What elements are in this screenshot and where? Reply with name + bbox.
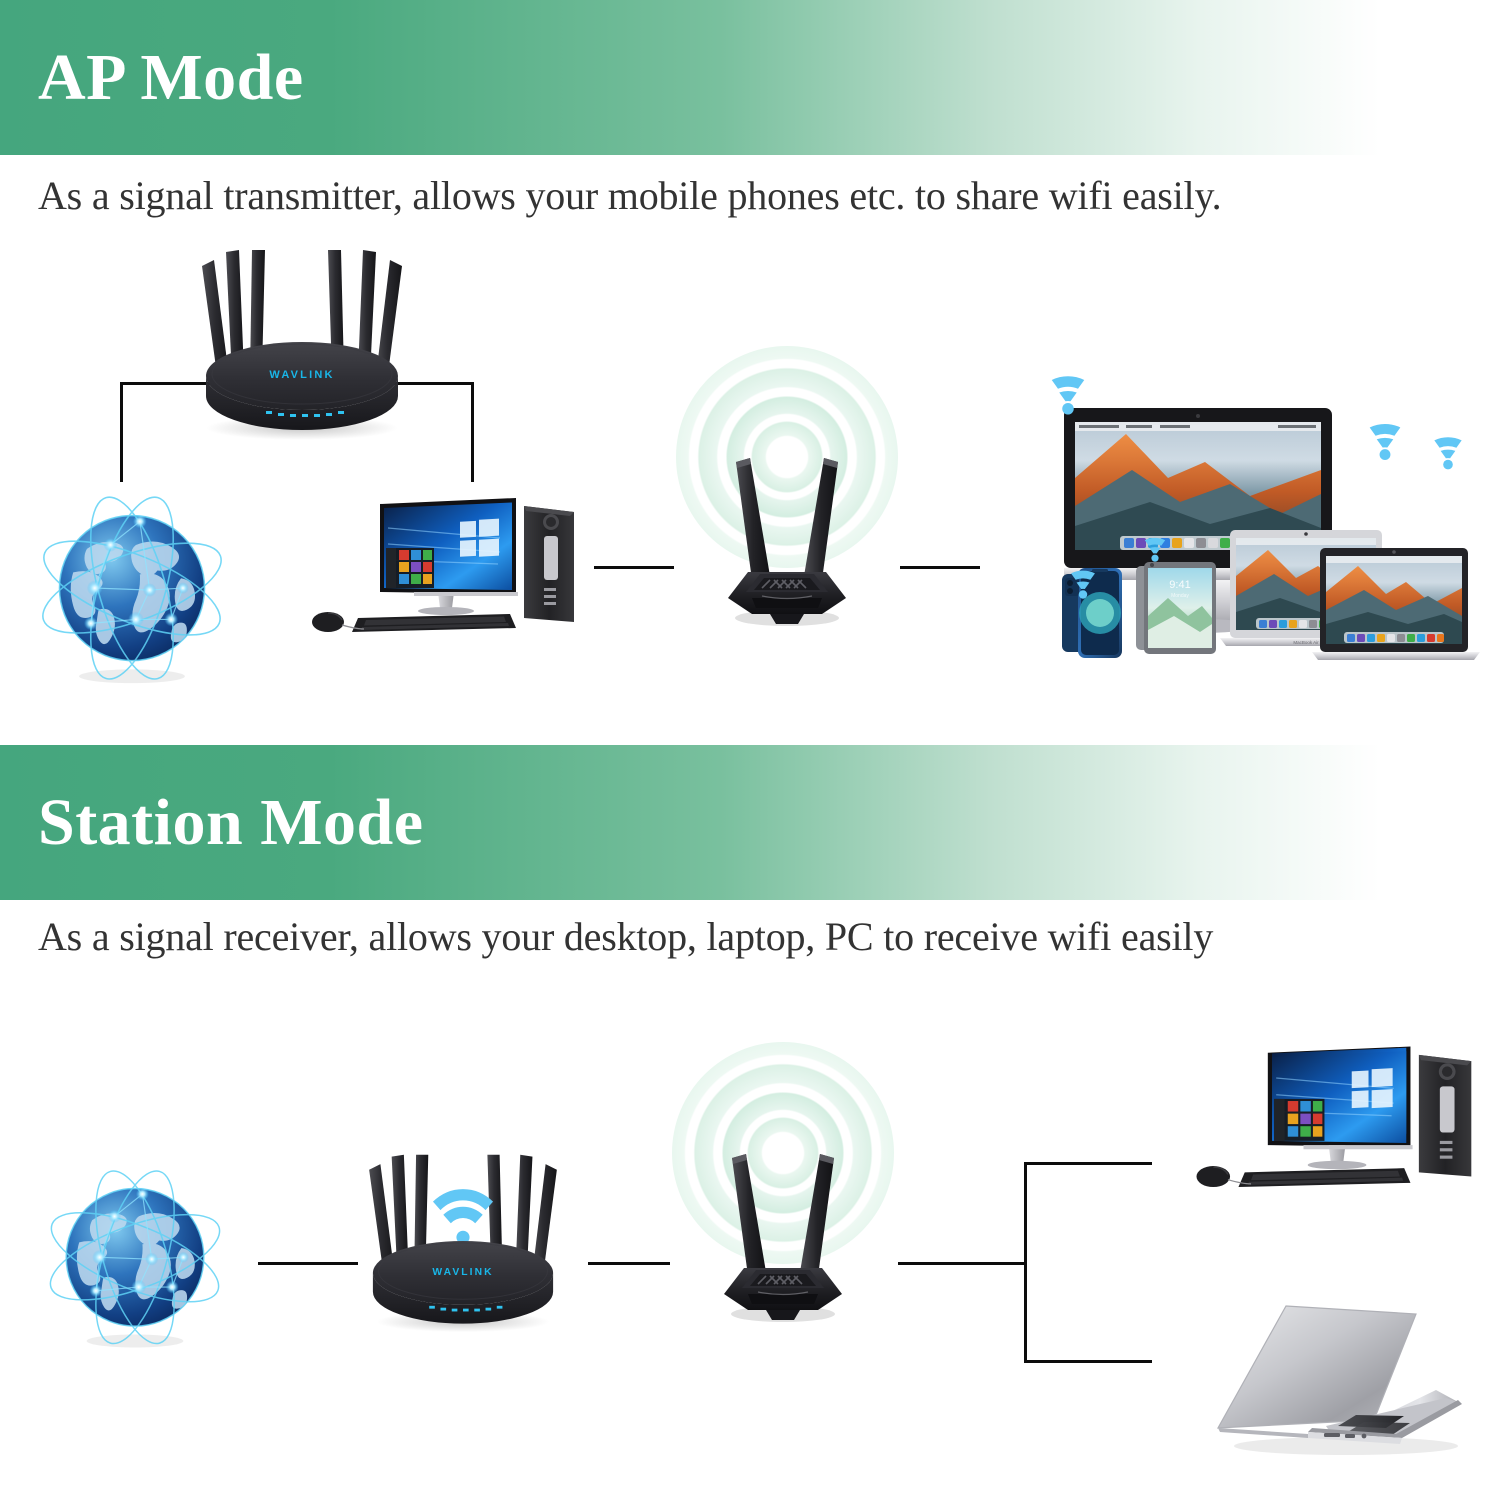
ap-mode-title: AP Mode [38, 45, 304, 111]
adapter-antenna-left-b [732, 1154, 766, 1276]
macbook-pro [1312, 548, 1480, 660]
station-mode-title: Station Mode [38, 790, 424, 856]
bracket-arm-to-laptop [1024, 1360, 1152, 1363]
svg-text:Monday: Monday [1171, 593, 1189, 599]
connector-pc-to-adapter [594, 566, 674, 569]
adapter-antenna-left [736, 458, 770, 580]
wifi-icon-macbook-air [1370, 424, 1401, 460]
ipad: 9:41 Monday [1136, 562, 1216, 654]
ap-mode-subtitle: As a signal transmitter, allows your mob… [38, 172, 1221, 219]
connector-adapter-to-devices [900, 566, 980, 569]
adapter-antenna-right [804, 458, 838, 580]
silver-macbook-laptop [1190, 1286, 1490, 1466]
infographic-page: AP Mode As a signal transmitter, allows … [0, 0, 1500, 1500]
wifi-icon-router [433, 1189, 493, 1244]
wavlink-router-bottom: WAVLINK [356, 1148, 570, 1336]
adapter-antenna-right-b [800, 1154, 834, 1276]
wavlink-router-top: WAVLINK [188, 248, 416, 438]
station-mode-subtitle: As a signal receiver, allows your deskto… [38, 913, 1213, 960]
ap-mode-banner: AP Mode [0, 0, 1500, 155]
router-brand-logo-bottom: WAVLINK [432, 1267, 493, 1278]
windows-desktop-pc-top [302, 492, 588, 648]
wifi-icon-macbook-pro [1434, 437, 1461, 469]
apple-device-cluster: 9:41 Monday [1040, 366, 1490, 666]
windows-desktop-pc-bottom [1186, 1040, 1486, 1204]
router-brand-logo: WAVLINK [269, 369, 334, 381]
connector-router-to-adapter-bottom [588, 1262, 670, 1265]
svg-text:MacBook Air: MacBook Air [1293, 640, 1319, 645]
usb-wifi-adapter-bottom [708, 1144, 858, 1322]
connector-router-to-globe-down [120, 382, 123, 482]
bracket-arm-to-pc [1024, 1162, 1152, 1165]
connector-globe-to-router-bottom [258, 1262, 358, 1265]
bracket-vertical [1024, 1162, 1027, 1363]
station-mode-banner: Station Mode [0, 745, 1500, 900]
iphone [1062, 568, 1122, 658]
internet-globe-bottom [42, 1168, 228, 1354]
svg-text:9:41: 9:41 [1169, 579, 1190, 591]
usb-wifi-adapter-top [712, 448, 862, 626]
laptop-lid [1218, 1306, 1416, 1428]
connector-adapter-to-bracket [898, 1262, 1026, 1265]
internet-globe-top [34, 494, 230, 690]
connector-router-to-pc-down [471, 382, 474, 482]
